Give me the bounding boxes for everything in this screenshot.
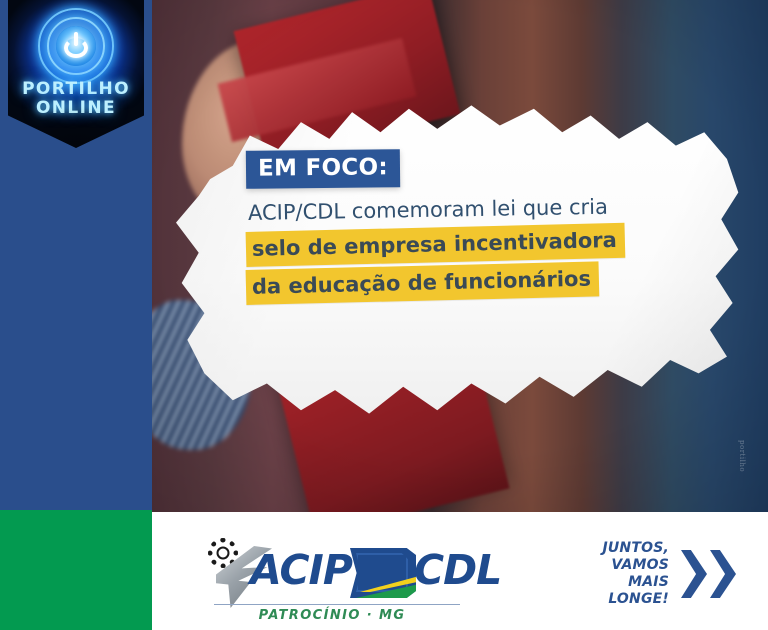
chevron-right-icon-group	[681, 550, 736, 598]
footer-bar: ACIP CDL PATROCÍNIO · MG JUNTOS, VAMOS M…	[152, 512, 768, 630]
slogan-line-4: LONGE!	[602, 591, 669, 608]
headline-line-3: da educação de funcionários	[246, 261, 600, 305]
slogan-line-2: VAMOS	[602, 557, 669, 574]
slogan-line-3: MAIS	[602, 574, 669, 591]
headline-line-3-wrap: da educação de funcionários	[246, 270, 676, 305]
cdl-flag-icon	[350, 548, 416, 598]
logo-city-label: PATROCÍNIO · MG	[202, 608, 462, 623]
brand-wordmark-line2: ONLINE	[8, 99, 144, 118]
cdl-wordmark: CDL	[414, 550, 501, 591]
acip-wordmark: ACIP	[250, 550, 352, 591]
left-sidebar: PORTILHO ONLINE	[0, 0, 152, 510]
logo-divider	[214, 604, 460, 605]
brand-wordmark-line1: PORTILHO	[8, 80, 144, 99]
headline-lines: ACIP/CDL comemoram lei que cria selo de …	[246, 198, 676, 305]
acip-cdl-logo[interactable]: ACIP CDL PATROCÍNIO · MG	[202, 534, 462, 620]
chevron-right-icon-2	[710, 550, 736, 598]
social-media-poster: PORTILHO ONLINE portilho EM FOCO: ACIP/C…	[0, 0, 768, 630]
slogan-line-1: JUNTOS,	[602, 540, 669, 557]
slogan-block: JUNTOS, VAMOS MAIS LONGE!	[602, 534, 736, 614]
power-core-icon	[56, 26, 96, 66]
headline-line-2-wrap: selo de empresa incentivadora	[246, 232, 676, 267]
em-foco-badge: EM FOCO:	[246, 149, 400, 189]
sidebar-green-strip	[0, 510, 152, 630]
power-icon	[64, 34, 88, 58]
brand-wordmark: PORTILHO ONLINE	[8, 80, 144, 118]
portilho-online-logo-plate[interactable]: PORTILHO ONLINE	[8, 0, 144, 148]
power-outer-ring-icon	[38, 8, 114, 84]
headline-line-2: selo de empresa incentivadora	[246, 223, 626, 267]
headline-block: EM FOCO: ACIP/CDL comemoram lei que cria…	[246, 150, 676, 305]
chevron-right-icon-1	[681, 550, 707, 598]
power-inner-ring-icon	[47, 17, 105, 75]
slogan-text: JUNTOS, VAMOS MAIS LONGE!	[602, 540, 669, 608]
photo-watermark: portilho	[738, 440, 746, 472]
